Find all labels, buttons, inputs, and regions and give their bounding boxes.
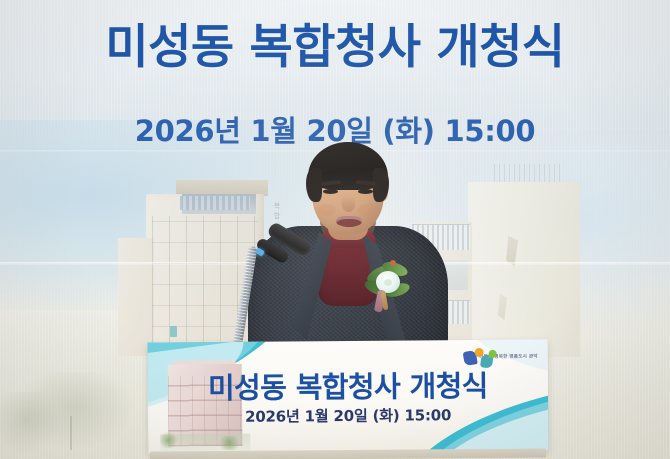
gwanak-gu-logo: 더불어 행복한 명품도시 관악 (464, 347, 538, 370)
ceremonial-corsage (368, 260, 410, 312)
sign-building-tree (158, 432, 178, 448)
podium-sign-title: 미성동 복합청사 개청식 (148, 362, 548, 407)
corsage-flower-center (384, 279, 392, 286)
speaker-eye-right (358, 189, 373, 194)
podium-name-board: 더불어 행복한 명품도시 관악 미성동 복합청사 개청식 2026년 1월 20… (148, 339, 549, 453)
backdrop-title: 미성동 복합청사 개청식 (0, 24, 670, 73)
corsage-bud (390, 260, 396, 266)
speaker-eye-left (323, 189, 338, 194)
logo-shape-green (489, 350, 497, 358)
speaker-cheek-left (318, 204, 336, 216)
building-right-mass (468, 182, 580, 357)
speaker-nose (342, 196, 355, 212)
microphone-gooseneck-stem (231, 246, 257, 356)
speaker-hair-side-left (306, 168, 322, 202)
photo-canvas: 복합청사 미성동 복합청사 개청식 2026년 1월 20일 (화) 15:00 (0, 0, 670, 459)
sign-building-tree (216, 436, 242, 450)
backdrop-tree-sketch-second (0, 392, 60, 454)
building-entrance-accent (170, 326, 177, 337)
podium-sign-subtitle: 2026년 1월 20일 (화) 15:00 (148, 403, 548, 427)
building-side-wing (118, 238, 154, 356)
speaker-mouth (336, 216, 362, 227)
speaker-cheek-right (358, 204, 376, 216)
logo-mark-icon (464, 348, 476, 368)
